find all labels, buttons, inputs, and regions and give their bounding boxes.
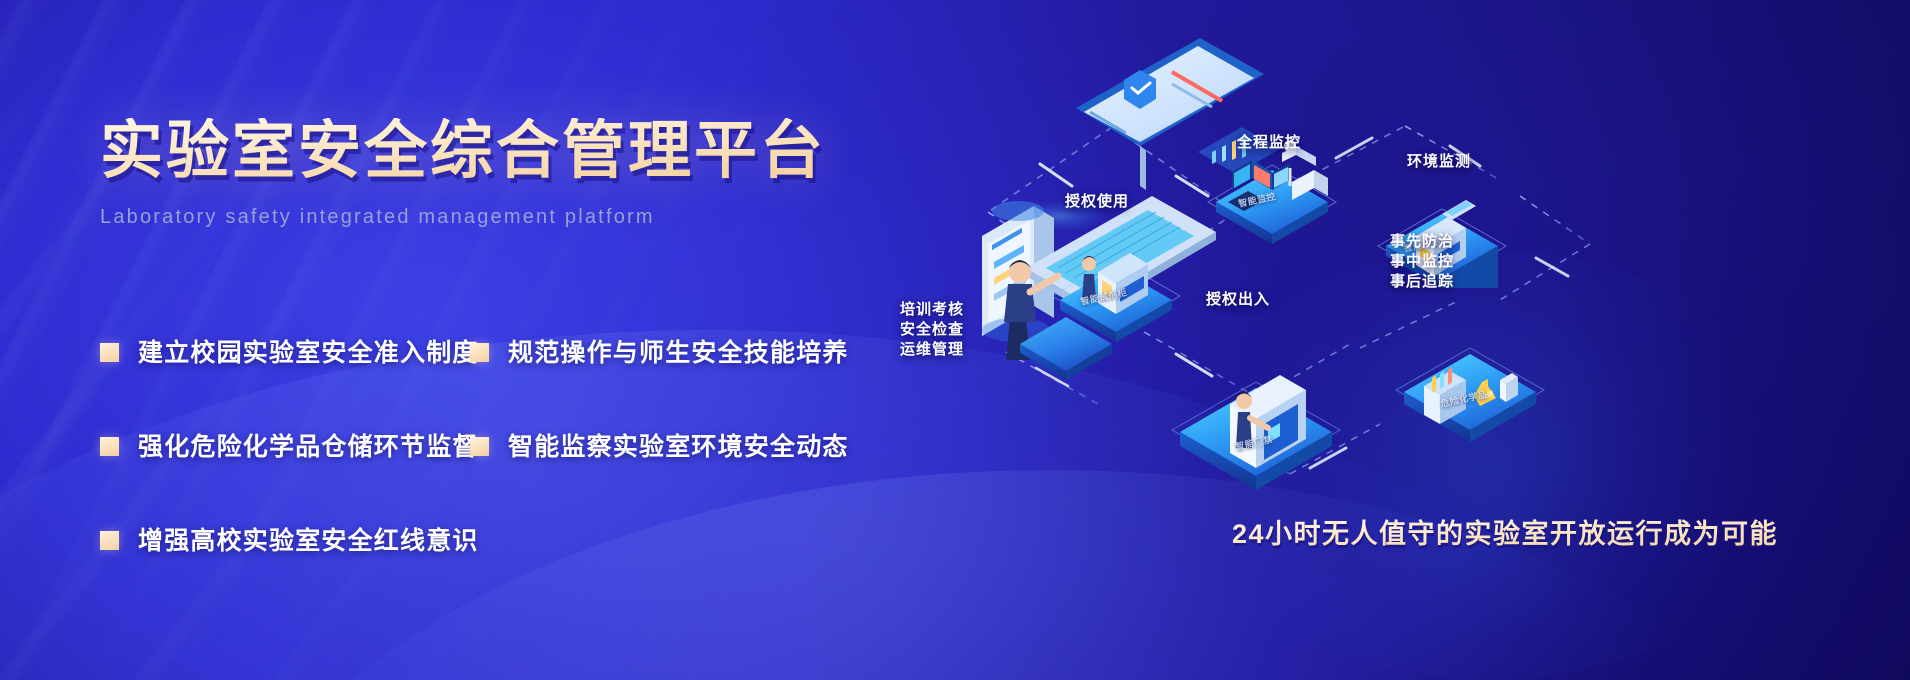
feature-item-label: 建立校园实验室安全准入制度 <box>138 333 479 369</box>
feature-item-4: 智能监察实验室环境安全动态 <box>470 427 840 463</box>
diagram-tagline: 24小时无人值守的实验室开放运行成为可能 <box>1232 512 1778 551</box>
square-marker-icon <box>100 343 119 362</box>
diagram-canvas <box>980 0 1910 680</box>
node-label-authorized-entry: 授权出入 <box>1206 288 1270 309</box>
square-marker-icon <box>470 343 489 362</box>
feature-item-2: 规范操作与师生安全技能培养 <box>470 333 840 369</box>
feature-item-label: 智能监察实验室环境安全动态 <box>508 427 849 463</box>
node-authorized-entry-illustration <box>1172 375 1340 490</box>
node-label-authorized-use: 授权使用 <box>1065 190 1129 211</box>
feature-item-label: 规范操作与师生安全技能培养 <box>508 333 849 369</box>
feature-item-label: 强化危险化学品仓储环节监督 <box>138 427 479 463</box>
square-marker-icon <box>100 437 119 456</box>
node-label-line: 事中监控 <box>1390 252 1454 272</box>
feature-row: 增强高校实验室安全红线意识 <box>100 521 910 557</box>
node-label-line: 事后追踪 <box>1390 272 1454 292</box>
hero-text-block: 实验室安全综合管理平台 Laboratory safety integrated… <box>100 118 920 229</box>
page-subtitle: Laboratory safety integrated management … <box>100 206 920 229</box>
node-label-full-monitoring: 全程监控 <box>1237 131 1301 152</box>
node-label-risk-control: 事先防治事中监控事后追踪 <box>1390 232 1454 291</box>
node-label-line: 培训考核 <box>900 300 964 320</box>
isometric-diagram: 培训考核安全检查运维管理 授权使用 智能试剂柜 全程监控 智能监控 环境监测 智… <box>980 0 1910 680</box>
node-label-line: 事先防治 <box>1390 232 1454 252</box>
feature-item-label: 增强高校实验室安全红线意识 <box>138 521 479 557</box>
square-marker-icon <box>100 531 119 550</box>
banner-root: 实验室安全综合管理平台 Laboratory safety integrated… <box>0 0 1910 680</box>
node-label-environment: 环境监测 <box>1407 150 1471 171</box>
page-title: 实验室安全综合管理平台 <box>100 118 920 184</box>
feature-row: 强化危险化学品仓储环节监督 智能监察实验室环境安全动态 <box>100 427 910 463</box>
feature-item-3: 强化危险化学品仓储环节监督 <box>100 427 470 463</box>
feature-item-1: 建立校园实验室安全准入制度 <box>100 333 470 369</box>
feature-item-5: 增强高校实验室安全红线意识 <box>100 521 470 557</box>
square-marker-icon <box>470 437 489 456</box>
feature-row: 建立校园实验室安全准入制度 规范操作与师生安全技能培养 <box>100 333 910 369</box>
feature-list: 建立校园实验室安全准入制度 规范操作与师生安全技能培养 强化危险化学品仓储环节监… <box>100 333 910 557</box>
